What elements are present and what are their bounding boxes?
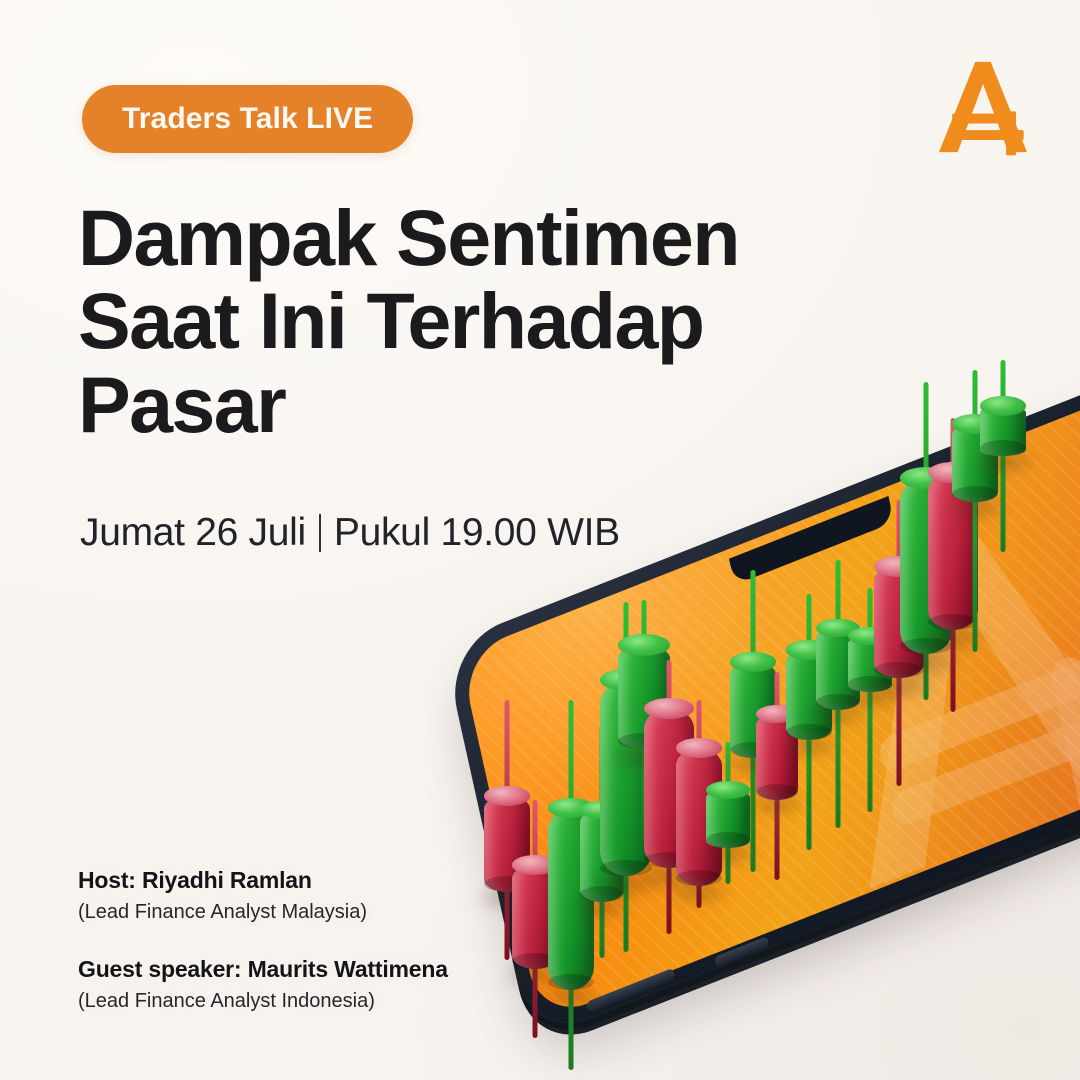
candle-wick [868,588,873,812]
candle-body [580,810,624,902]
candle-body-base [548,974,594,990]
candle-body [512,865,558,969]
screen-glow [459,381,1080,1022]
candle-body-base [600,860,652,876]
candle-body-top [756,705,798,723]
candle-body-top [816,619,860,637]
candle-body-top [618,634,670,656]
candle-19-up [980,360,1026,552]
live-badge-label: Traders Talk LIVE [122,104,373,134]
candle-shadow [746,790,809,819]
candle-body [928,472,978,630]
candle-shadow [501,959,570,991]
candle-shadow [775,730,844,762]
candle-9-up [706,742,750,884]
host-block: Host: Riyadhi Ramlan (Lead Finance Analy… [78,866,448,925]
candle-body-top [980,396,1026,415]
candle-8-down [676,700,722,908]
candle-shadow [632,858,707,893]
candle-6-up [618,600,670,840]
candle-shadow [665,876,734,908]
guest-name: Guest speaker: Maurits Wattimena [78,955,448,984]
candle-shadow [837,682,903,713]
candle-shadow [473,882,542,914]
phone-notch [729,496,894,585]
candle-body-top [928,462,978,483]
candle-body-top [730,652,776,671]
candle-12-up [786,594,832,850]
candle-body-base [928,614,978,630]
candle-body [848,636,892,692]
candle-wick [642,600,647,840]
candle-body [730,662,776,758]
candle-5-up [600,602,652,952]
candle-4-up [580,726,624,958]
candle-body-top [900,467,952,489]
headline-line-2: Saat Ini Terhadap [78,279,838,362]
candle-wick [775,672,780,880]
candle-body [676,748,722,886]
speakers-block: Host: Riyadhi Ramlan (Lead Finance Analy… [78,866,448,1014]
candle-wick [751,570,756,872]
candle-body-base [756,784,798,800]
datetime-separator [319,514,321,552]
candle-wick [569,700,574,1070]
candle-shadow [969,446,1038,478]
event-time: Pukul 19.00 WIB [334,513,620,552]
phone-screen [459,381,1080,1022]
candle-body-base [512,953,558,969]
candle-body [706,790,750,848]
candle-body-base [952,486,998,502]
candle-body-base [706,832,750,848]
candle-2-down [512,800,558,1038]
candle-wick [807,594,812,850]
live-badge[interactable]: Traders Talk LIVE [82,85,413,153]
candle-body [600,680,652,876]
candle-body-top [644,698,694,719]
candle-body-top [484,786,530,805]
candle-wick [726,742,731,884]
guest-block: Guest speaker: Maurits Wattimena (Lead F… [78,955,448,1014]
candle-body [756,714,798,800]
candle-body-base [848,676,892,692]
host-role: (Lead Finance Analyst Malaysia) [78,899,448,925]
candle-body-top [580,801,624,819]
phone-side-button-secondary [714,936,769,967]
candle-7-down [644,660,694,934]
candle-body-base [980,440,1026,456]
candle-body [484,796,530,892]
candle-wick [600,726,605,958]
candle-body-top [874,556,924,577]
candle-body-base [580,886,624,902]
candle-wick [667,660,672,934]
candle-shadow [537,980,606,1012]
page-title: Dampak Sentimen Saat Ini Terhadap Pasar [78,196,838,446]
candle-body-top [512,855,558,874]
candle-shadow [719,748,788,780]
candle-wick [973,370,978,652]
promo-poster: Traders Talk LIVE Dampak Sentimen Saat I… [0,0,1080,1080]
candle-body-top [548,798,594,817]
candle-16-up [900,382,952,700]
candle-body [952,424,998,502]
candle-shadow [605,739,683,775]
candle-shadow [887,644,965,680]
candle-body-base [676,870,722,886]
candle-17-down [928,418,978,712]
candle-body-top [848,627,892,645]
candle-body [816,628,860,710]
candle-shadow [941,492,1010,524]
candle-10-up [730,570,776,872]
event-date: Jumat 26 Juli [80,513,306,552]
candle-body [980,406,1026,456]
candle-shadow [805,700,871,731]
candle-1-down [484,700,530,960]
screen-watermark-a-icon [734,432,1080,925]
candle-body-base [786,724,832,740]
candle-15-down [874,500,924,786]
candle-wick [533,800,538,1038]
candle-body-base [618,733,670,749]
candle-body-base [900,638,952,654]
candle-wick [897,500,902,786]
candle-body [786,650,832,740]
candle-wick [624,602,629,952]
candle-wick [951,418,956,712]
candle-wick [697,700,702,908]
brand-logo-a-icon [928,52,1038,162]
candle-shadow [587,866,665,902]
candle-shadow [569,892,635,923]
candle-body [618,645,670,749]
phone-ground-shadow [509,537,1080,1068]
candle-13-up [816,560,860,828]
candle-shadow [916,620,991,655]
candle-body-base [816,694,860,710]
candle-shadow [862,668,937,703]
candle-wick [836,560,841,828]
phone-side-button [586,968,676,1013]
candle-body-top [952,414,998,433]
candle-14-up [848,588,892,812]
candle-18-up [952,370,998,652]
candle-wick [924,382,929,700]
candle-body-base [484,876,530,892]
candle-body-top [600,669,652,691]
candle-body-top [676,738,722,757]
event-datetime: Jumat 26 Juli Pukul 19.00 WIB [80,513,620,552]
guest-role: (Lead Finance Analyst Indonesia) [78,988,448,1014]
candle-wick [1001,360,1006,552]
headline-line-3: Pasar [78,363,838,446]
candle-body [548,808,594,990]
candle-wick [505,700,510,960]
candle-body-top [786,640,832,659]
candle-3-up [548,700,594,1070]
candle-11-down [756,672,798,880]
candle-shadow [695,838,761,869]
headline-line-1: Dampak Sentimen [78,196,838,279]
candle-body [900,478,952,654]
candle-body-base [644,852,694,868]
host-name: Host: Riyadhi Ramlan [78,866,448,895]
screen-stripes [459,381,1080,1022]
candle-body [644,708,694,868]
candle-body-top [706,781,750,799]
candle-body-base [730,742,776,758]
candle-body [874,566,924,678]
phone-body [443,362,1080,1041]
candle-body-base [874,662,924,678]
